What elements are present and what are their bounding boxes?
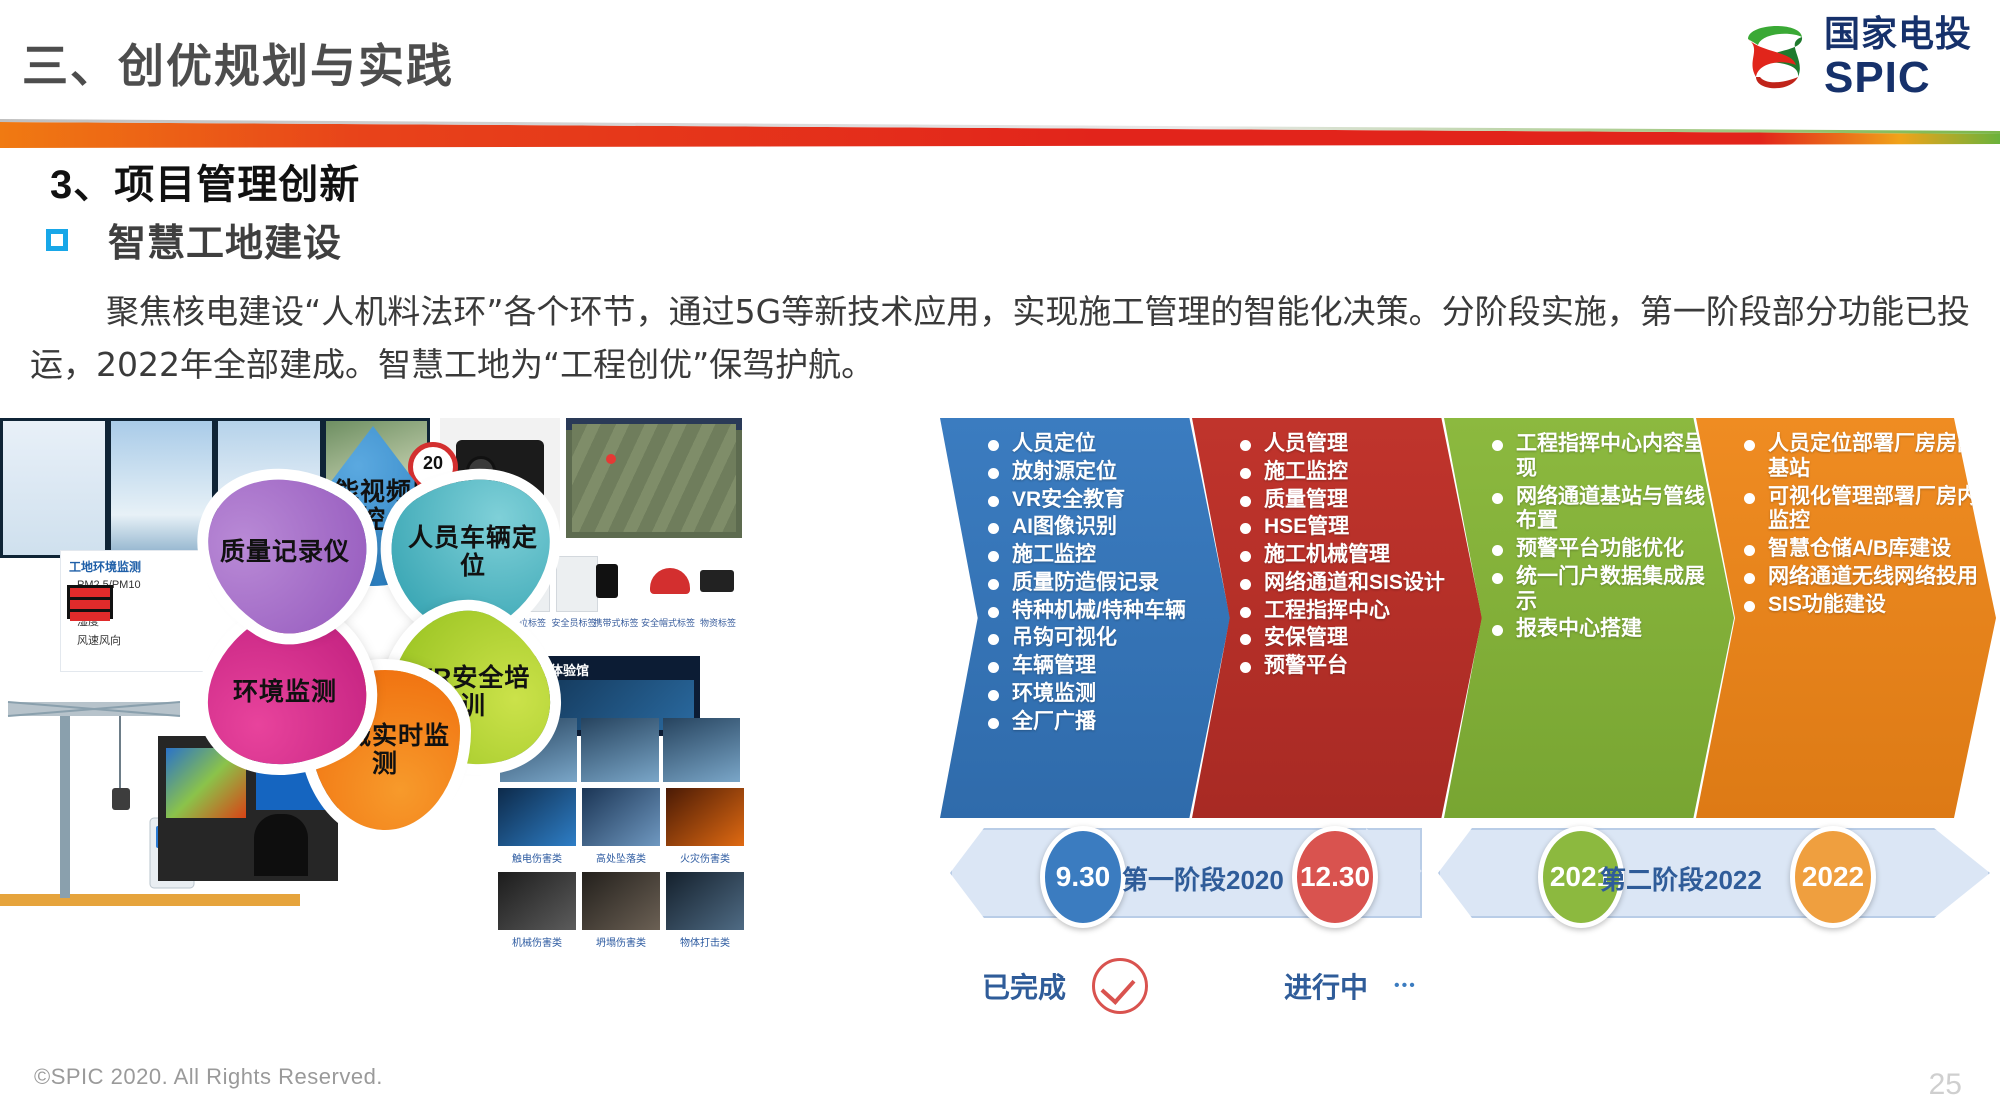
legend-done-label: 已完成 (982, 966, 1066, 1006)
spic-logo: 国家电投 SPIC (1740, 16, 1972, 100)
copyright-footer: ©SPIC 2020. All Rights Reserved. (34, 1064, 383, 1090)
roadmap-stage-green: 工程指挥中心内容呈现 网络通道基站与管线布置 预警平台功能优化 统一门户数据集成… (1444, 418, 1734, 818)
roadmap-stage-blue: 人员定位 放射源定位 VR安全教育 AI图像识别 施工监控 质量防造假记录 特种… (940, 418, 1230, 818)
check-circle-icon (1092, 958, 1148, 1014)
page-title: 三、创优规划与实践 (22, 30, 454, 96)
logo-english-name: SPIC (1824, 56, 1972, 100)
stage-item: 质量防造假记录 (986, 571, 1220, 596)
roadmap-stage-red: 人员管理 施工监控 质量管理 HSE管理 施工机械管理 网络通道和SIS设计 工… (1192, 418, 1482, 818)
hazard-caption: 物体打击类 (666, 934, 744, 949)
stage-item: 预警平台 (1238, 654, 1472, 679)
legend-progress-dots: ••• (1394, 977, 1417, 995)
stage-item: 预警平台功能优化 (1490, 537, 1724, 562)
stage-item: 网络通道基站与管线布置 (1490, 485, 1724, 535)
body-paragraph: 聚焦核电建设“人机料法环”各个环节，通过5G等新技术应用，实现施工管理的智能化决… (30, 285, 1970, 392)
petal-label: 质量记录仪 (214, 538, 356, 566)
stage-item: 安保管理 (1238, 626, 1472, 651)
hazard-caption: 高处坠落类 (582, 850, 660, 865)
stage-item: SIS功能建设 (1742, 593, 1986, 618)
hazard-photo (582, 872, 660, 930)
stage-item: 网络通道和SIS设计 (1238, 571, 1472, 596)
stage-item: AI图像识别 (986, 515, 1220, 540)
stage-item: 可视化管理部署厂房内监控 (1742, 485, 1986, 535)
stage-item: 网络通道无线网络投用 (1742, 565, 1986, 590)
tag-box-device (700, 570, 734, 592)
legend-progress-label: 进行中 (1284, 966, 1368, 1006)
logo-chinese-name: 国家电投 (1824, 16, 1972, 52)
stage-item: 质量管理 (1238, 488, 1472, 513)
bullet-heading-row: 智慧工地建设 (46, 212, 342, 267)
ribbon-shape (0, 118, 2000, 152)
tag-phone-device (596, 564, 618, 598)
hazard-caption: 坍塌伤害类 (582, 934, 660, 949)
section-heading: 3、项目管理创新 (50, 152, 360, 210)
stage-item: 吊钩可视化 (986, 626, 1220, 651)
milestone-badge-2022: 2022 (1790, 826, 1876, 928)
roadmap-stage-orange: 人员定位部署厂房房间基站 可视化管理部署厂房内监控 智慧仓储A/B库建设 网络通… (1696, 418, 1996, 818)
hazard-photo (666, 872, 744, 930)
stage-item: VR安全教育 (986, 488, 1220, 513)
stage-item-list: 人员管理 施工监控 质量管理 HSE管理 施工机械管理 网络通道和SIS设计 工… (1238, 432, 1472, 679)
stage-item: HSE管理 (1238, 515, 1472, 540)
photo-site-map (566, 418, 742, 538)
map-pin-icon (606, 454, 616, 464)
vr-shot (663, 718, 740, 782)
stage-item: 特种机械/特种车辆 (986, 599, 1220, 624)
bullet-heading-label: 智慧工地建设 (108, 212, 342, 267)
roadmap-legend: 已完成 进行中 ••• (982, 958, 1417, 1014)
tag-caption: 物资标签 (696, 616, 740, 629)
stage-item: 人员定位部署厂房房间基站 (1742, 432, 1986, 482)
stage-item: 人员管理 (1238, 432, 1472, 457)
stage-item: 车辆管理 (986, 654, 1220, 679)
logo-text: 国家电投 SPIC (1824, 16, 1972, 100)
map-terrain (572, 424, 736, 532)
stage-item: 工程指挥中心内容呈现 (1490, 432, 1724, 482)
stage-item: 工程指挥中心 (1238, 599, 1472, 624)
slide: 三、创优规划与实践 国家电投 SPIC (0, 0, 2000, 1120)
tag-card (556, 556, 598, 612)
hazard-photo (666, 788, 744, 846)
stage-item: 人员定位 (986, 432, 1220, 457)
stage-item-list: 工程指挥中心内容呈现 网络通道基站与管线布置 预警平台功能优化 统一门户数据集成… (1490, 432, 1724, 642)
square-bullet-icon (46, 229, 68, 251)
hazard-caption: 火灾伤害类 (666, 850, 744, 865)
smart-helmet-icon (650, 568, 690, 594)
stage-item: 报表中心搭建 (1490, 617, 1724, 642)
spic-logo-mark-icon (1740, 19, 1810, 97)
tag-caption: 安全帽式标签 (640, 616, 696, 629)
logo-swirl-icon (1740, 19, 1810, 97)
phase-label-one: 第一阶段2020 (1122, 860, 1284, 897)
led-display-icon (67, 585, 113, 619)
wall-screen (3, 421, 105, 555)
milestone-badge-1230: 12.30 (1292, 826, 1378, 928)
header-divider-ribbon (0, 118, 2000, 152)
tag-caption: 携带式标签 (592, 616, 640, 629)
stage-item-list: 人员定位 放射源定位 VR安全教育 AI图像识别 施工监控 质量防造假记录 特种… (986, 432, 1220, 734)
petal-label: 人员车辆定位 (398, 524, 548, 580)
timeline-arrow-band: 9.30 12.30 2021 2022 第一阶段2020 第二阶段2022 (940, 810, 2000, 930)
stage-item: 智慧仓储A/B库建设 (1742, 537, 1986, 562)
hazard-photo (582, 788, 660, 846)
stage-item-list: 人员定位部署厂房房间基站 可视化管理部署厂房内监控 智慧仓储A/B库建设 网络通… (1742, 432, 1986, 617)
stage-item: 放射源定位 (986, 460, 1220, 485)
vr-shot (581, 718, 658, 782)
stage-item: 环境监测 (986, 682, 1220, 707)
milestone-badge-930: 9.30 (1040, 826, 1126, 928)
stage-item: 施工监控 (1238, 460, 1472, 485)
stage-item: 施工机械管理 (1238, 543, 1472, 568)
roadmap-diagram: 人员定位 放射源定位 VR安全教育 AI图像识别 施工监控 质量防造假记录 特种… (940, 418, 2000, 1058)
wall-screen (111, 421, 213, 555)
capability-flower-diagram: 智能视频监控 人员车辆定位 VR安全培训 机械实时监测 环境监测 质量记录仪 (200, 420, 560, 1040)
stage-item: 施工监控 (986, 543, 1220, 568)
petal-label: 环境监测 (227, 678, 343, 706)
stage-item: 统一门户数据集成展示 (1490, 565, 1724, 615)
page-number: 25 (1929, 1068, 1962, 1102)
phase-label-two: 第二阶段2022 (1600, 860, 1762, 897)
stage-item: 全厂广播 (986, 710, 1220, 735)
